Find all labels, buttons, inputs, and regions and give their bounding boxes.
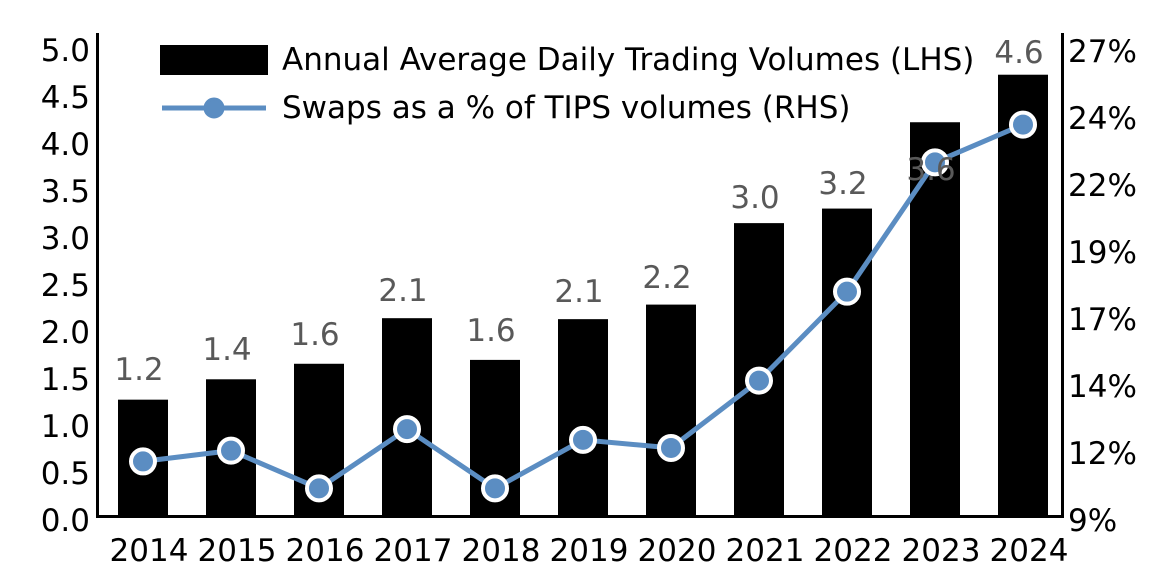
y-axis-left-tick: 0.0 bbox=[0, 503, 90, 539]
x-axis-tick-label: 2024 bbox=[969, 533, 1089, 569]
line-marker bbox=[307, 476, 331, 500]
y-axis-left-tick: 4.5 bbox=[0, 80, 90, 116]
line-marker bbox=[571, 428, 595, 452]
y-axis-left-tick: 0.5 bbox=[0, 456, 90, 492]
y-axis-right-tick: 12% bbox=[1068, 436, 1152, 472]
y-axis-left-tick: 5.0 bbox=[0, 33, 90, 69]
bar-data-label: 3.6 bbox=[876, 152, 986, 188]
y-axis-right-tick: 27% bbox=[1068, 34, 1152, 70]
bar-data-label: 2.2 bbox=[612, 260, 722, 296]
line-marker bbox=[131, 449, 155, 473]
bar-data-label: 2.1 bbox=[348, 273, 458, 309]
y-axis-left-tick: 4.0 bbox=[0, 127, 90, 163]
bar bbox=[558, 319, 608, 518]
legend-label: Swaps as a % of TIPS volumes (RHS) bbox=[282, 90, 850, 126]
chart-container: 0.0 0.5 1.0 1.5 2.0 2.5 3.0 3.5 4.0 4.5 … bbox=[0, 0, 1152, 584]
y-axis-left-tick: 1.5 bbox=[0, 362, 90, 398]
legend: Annual Average Daily Trading Volumes (LH… bbox=[160, 36, 974, 132]
y-axis-left-tick: 3.0 bbox=[0, 221, 90, 257]
y-axis-right-tick: 19% bbox=[1068, 235, 1152, 271]
y-axis-left-tick: 3.5 bbox=[0, 174, 90, 210]
y-axis-right-tick: 24% bbox=[1068, 101, 1152, 137]
legend-line-swatch-icon bbox=[160, 93, 268, 123]
y-axis-right-tick: 14% bbox=[1068, 369, 1152, 405]
y-axis-right-tick: 17% bbox=[1068, 302, 1152, 338]
line-marker bbox=[835, 280, 859, 304]
y-axis-left-tick: 2.0 bbox=[0, 315, 90, 351]
legend-bar-swatch-icon bbox=[160, 45, 268, 75]
line-marker bbox=[747, 369, 771, 393]
bar bbox=[646, 305, 696, 518]
legend-entry-bars: Annual Average Daily Trading Volumes (LH… bbox=[160, 36, 974, 84]
legend-label: Annual Average Daily Trading Volumes (LH… bbox=[282, 42, 974, 78]
line-marker bbox=[395, 417, 419, 441]
legend-line-marker-icon bbox=[160, 93, 268, 123]
y-axis-right-tick: 22% bbox=[1068, 168, 1152, 204]
bar bbox=[822, 209, 872, 518]
legend-entry-line: Swaps as a % of TIPS volumes (RHS) bbox=[160, 84, 974, 132]
bar-data-label: 1.6 bbox=[260, 317, 370, 353]
y-axis-left-tick: 1.0 bbox=[0, 409, 90, 445]
bar-data-label: 4.6 bbox=[964, 35, 1074, 71]
bar bbox=[998, 75, 1048, 518]
line-marker bbox=[483, 476, 507, 500]
line-marker bbox=[219, 439, 243, 463]
line-marker bbox=[1011, 113, 1035, 137]
line-marker bbox=[659, 436, 683, 460]
y-axis-left-tick: 2.5 bbox=[0, 268, 90, 304]
bar-data-label: 1.6 bbox=[436, 313, 546, 349]
